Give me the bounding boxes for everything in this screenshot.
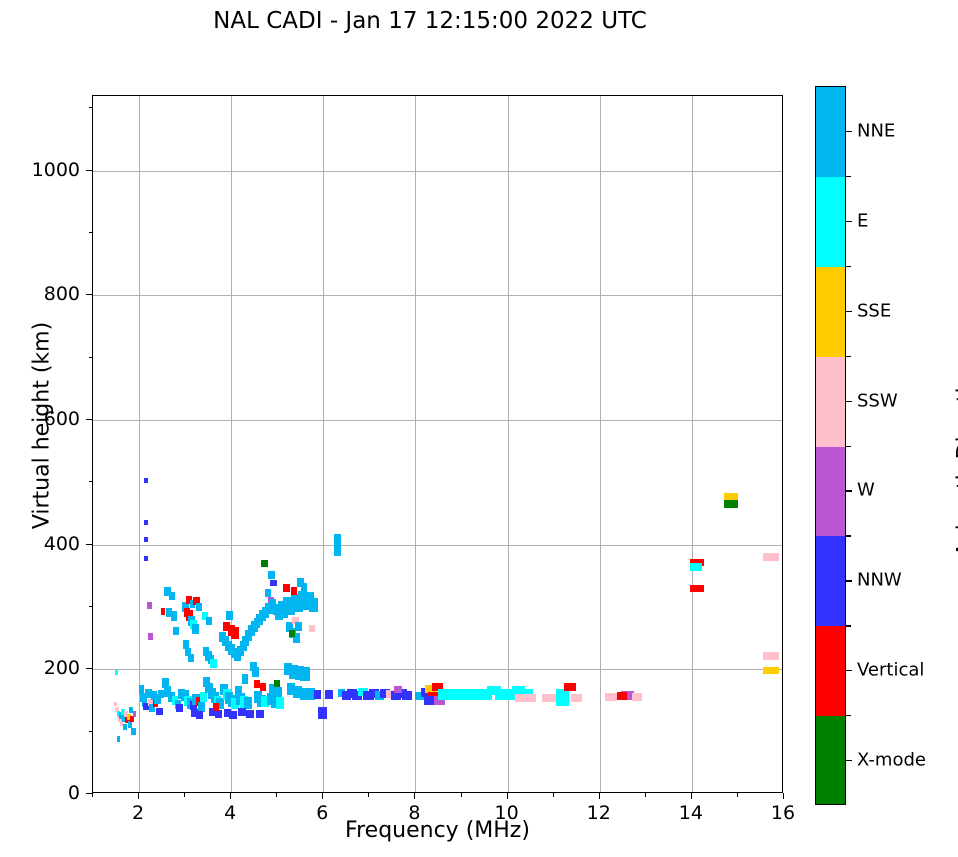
y-tick (86, 294, 92, 295)
x-tick-minor (645, 793, 646, 797)
colorbar-band-nne (816, 87, 845, 177)
echo-mark (763, 667, 779, 674)
echo-mark (173, 627, 179, 635)
colorbar-band-w (816, 447, 845, 537)
plot-frame (92, 95, 783, 793)
echo-mark (229, 711, 237, 719)
echo-mark (295, 622, 302, 631)
echo-mark (325, 690, 333, 699)
echo-mark (196, 603, 202, 611)
echo-mark (424, 696, 434, 705)
gridline-vertical (600, 96, 601, 792)
echo-mark (231, 627, 238, 639)
y-tick-minor (89, 107, 93, 108)
gridline-vertical (231, 96, 232, 792)
echo-mark (632, 693, 642, 701)
x-tick (507, 793, 508, 799)
echo-mark (270, 580, 276, 586)
colorbar-tick (846, 580, 852, 581)
echo-mark (724, 493, 739, 500)
echo-mark (265, 589, 271, 597)
echo-mark (556, 698, 569, 706)
echo-mark (275, 687, 282, 697)
colorbar-label-w: W (857, 480, 875, 501)
colorbar-band-separator (846, 625, 851, 626)
echo-mark (133, 711, 137, 717)
colorbar-band-e (816, 177, 845, 267)
x-tick-minor (553, 793, 554, 797)
echo-mark (215, 710, 222, 718)
gridline-vertical (323, 96, 324, 792)
x-tick-minor (92, 793, 93, 797)
colorbar (815, 86, 846, 805)
colorbar-band-separator (846, 446, 851, 447)
echo-mark (314, 690, 321, 699)
gridline-horizontal (93, 420, 782, 421)
echo-mark (144, 520, 149, 525)
colorbar-tick (846, 760, 852, 761)
echo-mark (690, 585, 704, 592)
echo-mark (289, 630, 295, 637)
echo-mark (148, 633, 153, 640)
colorbar-label-vertical: Vertical (857, 660, 924, 681)
echo-mark (268, 571, 275, 579)
x-tick-minor (184, 793, 185, 797)
colorbar-label-sse: SSE (857, 300, 891, 321)
echo-mark (261, 560, 268, 567)
echo-mark (274, 680, 280, 687)
echo-mark (161, 608, 166, 615)
echo-mark (235, 686, 242, 696)
colorbar-band-separator (846, 266, 851, 267)
y-tick-minor (89, 731, 93, 732)
echo-mark (213, 703, 219, 711)
plot-area (93, 96, 782, 792)
echo-mark (318, 707, 326, 719)
echo-mark (171, 611, 177, 621)
y-tick (86, 544, 92, 545)
echo-mark (260, 683, 266, 691)
colorbar-tick (846, 131, 852, 132)
colorbar-tick (846, 221, 852, 222)
echo-mark (334, 534, 341, 556)
echo-mark (200, 692, 207, 702)
echo-mark (256, 710, 264, 718)
x-tick (783, 793, 784, 799)
colorbar-band-sse (816, 267, 845, 357)
colorbar-tick (846, 670, 852, 671)
colorbar-band-separator (846, 176, 851, 177)
echo-mark (301, 583, 308, 592)
gridline-vertical (692, 96, 693, 792)
colorbar-tick (846, 311, 852, 312)
colorbar-band-x-mode (816, 716, 845, 805)
echo-mark (309, 598, 318, 612)
echo-mark (115, 670, 118, 675)
y-tick (86, 793, 92, 794)
echo-mark (605, 693, 617, 701)
echo-mark (763, 553, 779, 561)
echo-mark (128, 721, 133, 728)
echo-mark (198, 702, 205, 712)
x-tick (414, 793, 415, 799)
colorbar-label-nne: NNE (857, 120, 895, 141)
echo-mark (144, 537, 149, 542)
echo-mark (147, 602, 152, 609)
echo-mark (300, 667, 309, 681)
x-tick (230, 793, 231, 799)
colorbar-label-e: E (857, 210, 868, 231)
echo-mark (564, 683, 576, 691)
echo-mark (246, 710, 254, 718)
echo-mark (169, 592, 175, 600)
x-tick (138, 793, 139, 799)
page-title: NAL CADI - Jan 17 12:15:00 2022 UTC (0, 8, 860, 34)
y-tick-label: 0 (68, 782, 80, 804)
colorbar-band-vertical (816, 626, 845, 716)
x-tick-minor (461, 793, 462, 797)
echo-mark (156, 708, 162, 715)
colorbar-label-ssw: SSW (857, 390, 898, 411)
y-axis-label: Virtual height (km) (30, 246, 55, 606)
echo-mark (242, 674, 249, 684)
echo-mark (309, 625, 315, 632)
x-tick (599, 793, 600, 799)
x-axis-label: Frequency (MHz) (92, 818, 783, 843)
echo-mark (276, 697, 284, 709)
y-tick-minor (89, 481, 93, 482)
echo-mark (402, 691, 412, 700)
echo-mark (176, 704, 183, 712)
echo-mark (144, 556, 149, 561)
colorbar-label-x-mode: X-mode (857, 750, 926, 771)
y-tick-minor (89, 232, 93, 233)
colorbar-band-nnw (816, 536, 845, 626)
echo-mark (144, 478, 149, 483)
x-tick-minor (276, 793, 277, 797)
y-tick-minor (89, 357, 93, 358)
ionogram-figure: NAL CADI - Jan 17 12:15:00 2022 UTC 2468… (0, 0, 958, 857)
echo-mark (206, 617, 212, 625)
echo-mark (196, 711, 203, 719)
echo-mark (525, 694, 537, 702)
x-tick (322, 793, 323, 799)
echo-mark (394, 686, 402, 693)
echo-mark (763, 652, 779, 660)
y-tick-label: 200 (44, 657, 80, 679)
echo-mark (542, 694, 556, 702)
echo-mark (254, 680, 260, 688)
colorbar-band-separator (846, 535, 851, 536)
echo-mark (131, 728, 135, 735)
echo-mark (291, 587, 297, 595)
echo-mark (571, 694, 583, 702)
echo-mark (724, 500, 739, 508)
echo-mark (114, 702, 117, 706)
echo-mark (192, 624, 199, 634)
gridline-vertical (415, 96, 416, 792)
y-tick (86, 419, 92, 420)
echo-mark (117, 736, 120, 742)
gridline-vertical (508, 96, 509, 792)
echo-mark (210, 659, 216, 668)
x-tick-minor (737, 793, 738, 797)
y-tick (86, 668, 92, 669)
gridline-horizontal (93, 669, 782, 670)
echo-mark (617, 692, 627, 700)
y-tick-minor (89, 606, 93, 607)
y-tick (86, 170, 92, 171)
echo-mark (690, 563, 702, 571)
echo-mark (250, 662, 256, 671)
colorbar-tick (846, 401, 852, 402)
colorbar-band-ssw (816, 357, 845, 447)
colorbar-label-nnw: NNW (857, 570, 902, 591)
echo-mark (188, 654, 194, 662)
gridline-horizontal (93, 171, 782, 172)
colorbar-band-separator (846, 715, 851, 716)
echo-mark (226, 611, 232, 620)
gridline-horizontal (93, 545, 782, 546)
colorbar-tick (846, 490, 852, 491)
gridline-horizontal (93, 295, 782, 296)
colorbar-title: Azimuth Direction (954, 279, 958, 639)
x-tick (691, 793, 692, 799)
echo-mark (283, 584, 289, 592)
y-tick-label: 1000 (32, 159, 80, 181)
x-tick-minor (368, 793, 369, 797)
colorbar-band-separator (846, 356, 851, 357)
